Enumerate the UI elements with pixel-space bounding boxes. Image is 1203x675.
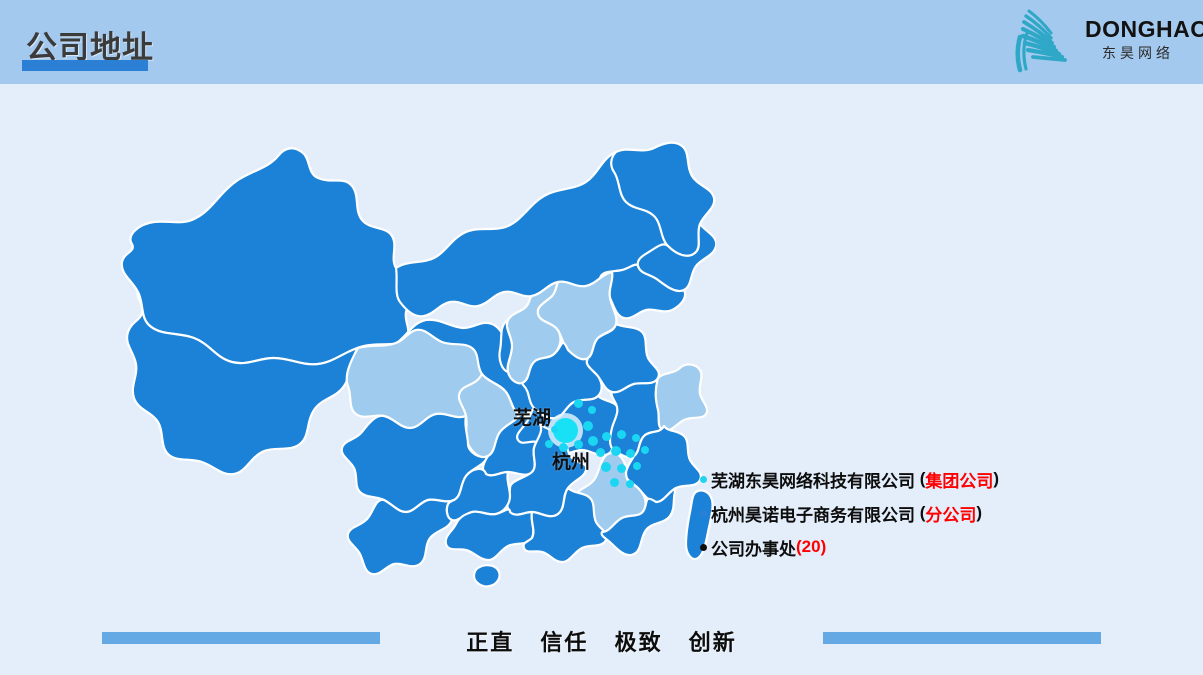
logo-subtitle: 东昊网络 xyxy=(1085,46,1191,60)
map-office-dot[interactable] xyxy=(633,462,641,470)
company-logo: DONGHAO 东昊网络 xyxy=(1003,4,1193,78)
legend-bullet-blue xyxy=(700,510,707,517)
legend-item-group-company[interactable]: 芜湖东昊网络科技有限公司 ( 集团公司 ) xyxy=(700,462,1130,496)
map-office-dot[interactable] xyxy=(641,446,649,454)
map-office-dot[interactable] xyxy=(626,480,634,488)
map-office-dot[interactable] xyxy=(632,434,640,442)
legend-paren-open: ( xyxy=(915,503,925,523)
map-office-dot[interactable] xyxy=(617,464,626,473)
footer-slogan: 正直 信任 极致 创新 xyxy=(0,625,1203,657)
map-office-dot[interactable] xyxy=(545,440,553,448)
slogan-word-2: 信任 xyxy=(540,630,588,655)
slogan-word-3: 极致 xyxy=(615,630,663,655)
province-yunnan xyxy=(348,500,454,575)
legend-label: 杭州昊诺电子商务有限公司 xyxy=(711,501,915,526)
legend-item-branch-company[interactable]: 杭州昊诺电子商务有限公司 ( 分公司 ) xyxy=(700,496,1130,530)
province-jiangsu xyxy=(656,364,707,430)
china-map[interactable]: 芜湖 杭州 xyxy=(96,140,716,610)
map-office-dot[interactable] xyxy=(617,430,626,439)
legend-tag-count: (20) xyxy=(796,537,826,557)
map-office-dot[interactable] xyxy=(601,462,611,472)
legend: 芜湖东昊网络科技有限公司 ( 集团公司 ) 杭州昊诺电子商务有限公司 ( 分公司… xyxy=(700,462,1130,564)
map-office-dot[interactable] xyxy=(611,446,621,456)
legend-label: 芜湖东昊网络科技有限公司 xyxy=(711,467,915,492)
logo-text: DONGHAO 东昊网络 xyxy=(1085,18,1191,60)
title-underline xyxy=(22,60,148,71)
map-office-dot[interactable] xyxy=(588,406,596,414)
legend-label: 公司办事处 xyxy=(711,535,796,560)
map-office-dot[interactable] xyxy=(602,432,611,441)
feather-wing-icon xyxy=(1011,7,1085,75)
map-office-dot[interactable] xyxy=(559,443,568,452)
map-office-dot[interactable] xyxy=(626,449,635,458)
slogan-word-1: 正直 xyxy=(466,630,514,655)
map-label-hangzhou: 杭州 xyxy=(552,447,590,474)
map-office-dot[interactable] xyxy=(574,440,583,449)
slogan-word-4: 创新 xyxy=(689,630,737,655)
map-office-dot[interactable] xyxy=(574,399,583,408)
province-hainan xyxy=(474,565,500,586)
legend-item-offices[interactable]: 公司办事处 (20) xyxy=(700,530,1130,564)
china-map-svg xyxy=(96,140,716,610)
legend-paren-open: ( xyxy=(915,469,925,489)
page-header: 公司地址 DONGHAO 东昊网络 xyxy=(0,0,1203,84)
legend-paren-close: ) xyxy=(993,469,999,489)
map-office-dot[interactable] xyxy=(551,426,558,433)
map-label-wuhu: 芜湖 xyxy=(513,403,551,430)
map-office-dot[interactable] xyxy=(596,448,605,457)
legend-tag: 集团公司 xyxy=(925,467,993,492)
legend-bullet-cyan xyxy=(700,476,707,483)
logo-name: DONGHAO xyxy=(1085,18,1191,41)
legend-bullet-black xyxy=(700,544,707,551)
map-office-dot[interactable] xyxy=(588,436,598,446)
legend-tag: 分公司 xyxy=(925,501,976,526)
map-office-dot[interactable] xyxy=(610,478,619,487)
map-office-dot[interactable] xyxy=(583,421,593,431)
legend-paren-close: ) xyxy=(976,503,982,523)
